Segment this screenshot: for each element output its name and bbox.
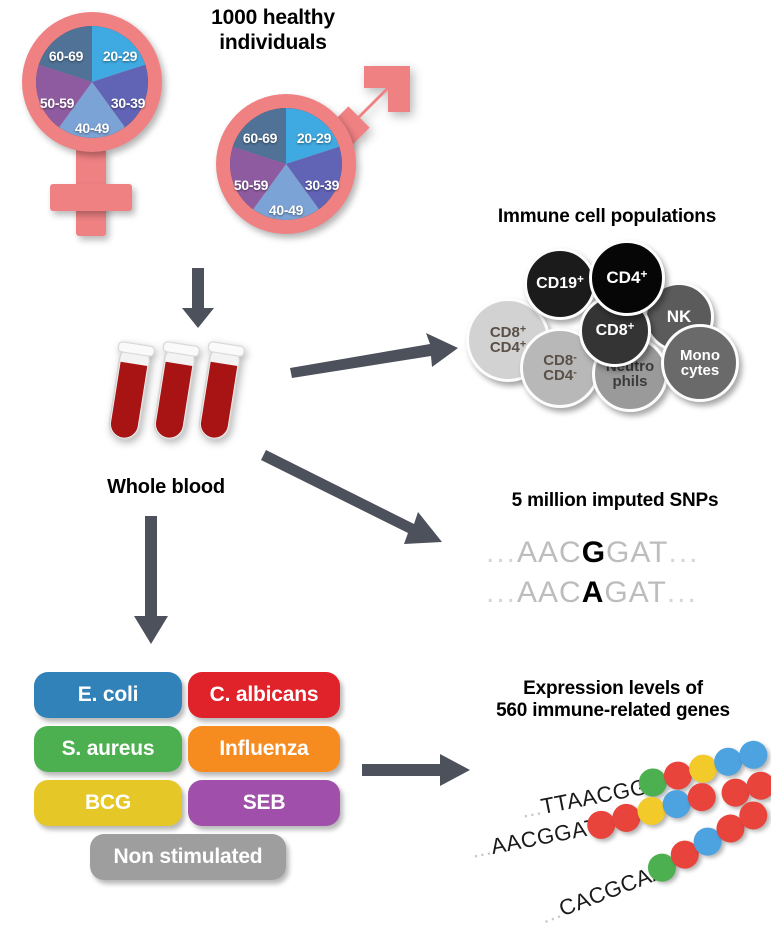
- immune-cell-label: CD8- CD4-: [543, 353, 577, 384]
- immune-cell-label: CD4+: [606, 269, 647, 286]
- arrow-blood-to-snps: [266, 450, 451, 550]
- immune-cell-label: CD19+: [536, 276, 584, 292]
- expression-title-line2: 560 immune-related genes: [458, 700, 768, 722]
- expression-bead: [685, 781, 718, 814]
- whole-blood-label: Whole blood: [86, 476, 246, 500]
- immune-cell-monocytes: Mono cytes: [661, 324, 739, 402]
- arrow-blood-to-immune-svg: [290, 330, 460, 380]
- snp-suffix: GAT: [606, 536, 668, 569]
- male-pie-label-50-59: 50-59: [234, 177, 268, 193]
- expression-title-line1: Expression levels of: [458, 678, 768, 700]
- immune-cell-cd4pos: CD4+: [589, 240, 665, 316]
- arrow-cohort-to-blood-svg: [178, 268, 218, 328]
- arrow-blood-to-snps-svg: [266, 450, 451, 550]
- snp-sequence-row: ...AACAGAT...: [486, 576, 698, 610]
- stimulus-c-albicans[interactable]: C. albicans: [188, 672, 340, 718]
- whole-blood-tubes: [98, 335, 248, 455]
- blood-tube: [194, 341, 245, 441]
- male-pie-label-20-29: 20-29: [297, 130, 331, 146]
- stimulus-e-coli[interactable]: E. coli: [34, 672, 182, 718]
- arrow-cohort-to-blood: [178, 268, 218, 328]
- female-gender-symbol: 20-29 30-39 40-49 50-59 60-69: [8, 8, 208, 238]
- snp-variant-allele: A: [582, 576, 605, 609]
- strand-bases: AACGGAT: [489, 814, 601, 859]
- arrow-blood-to-immune: [290, 330, 460, 380]
- snp-trail-dots: ...: [669, 536, 700, 569]
- expression-strands: ...TTAACGG ...AACGGAT ...CACGCAA: [460, 740, 771, 920]
- male-pie-label-40-49: 40-49: [269, 202, 303, 218]
- expression-bead: [737, 738, 770, 771]
- female-pie-label-20-29: 20-29: [103, 48, 137, 64]
- arrow-blood-to-stimuli-svg: [130, 516, 172, 646]
- immune-cell-label: Mono cytes: [680, 348, 720, 379]
- snp-suffix: GAT: [604, 576, 666, 609]
- blood-tube: [104, 341, 155, 441]
- male-pie-label-30-39: 30-39: [305, 177, 339, 193]
- immune-cell-label: NK: [667, 308, 692, 325]
- arrow-stimuli-to-expression: [362, 752, 472, 792]
- female-pie-label-50-59: 50-59: [40, 95, 74, 111]
- snp-lead-dots: ...: [486, 536, 517, 569]
- snp-prefix: AAC: [517, 536, 582, 569]
- snp-variant-allele: G: [582, 536, 606, 569]
- female-symbol-stem-cross: [50, 184, 132, 211]
- blood-tube: [149, 341, 200, 441]
- stimulus-seb[interactable]: SEB: [188, 780, 340, 826]
- snp-sequence-row: ...AACGGAT...: [486, 536, 700, 570]
- stimulus-bcg[interactable]: BCG: [34, 780, 182, 826]
- immune-cell-label: CD8+ CD4+: [490, 325, 526, 356]
- arrow-stimuli-to-expression-svg: [362, 752, 472, 792]
- stimulus-influenza[interactable]: Influenza: [188, 726, 340, 772]
- male-pie-label-60-69: 60-69: [243, 130, 277, 146]
- immune-panel-title: Immune cell populations: [452, 206, 762, 228]
- female-pie-label-40-49: 40-49: [75, 120, 109, 136]
- immune-cell-label: CD8+: [596, 323, 635, 339]
- snp-prefix: AAC: [517, 576, 582, 609]
- snp-sequences: ...AACGGAT... ...AACAGAT...: [478, 528, 768, 624]
- snp-panel-title: 5 million imputed SNPs: [470, 490, 760, 512]
- snp-trail-dots: ...: [667, 576, 698, 609]
- female-pie-label-60-69: 60-69: [49, 48, 83, 64]
- immune-cell-cluster: CD8+ CD4+ CD19+ CD4+ CD8+ NK CD8- CD4- N…: [450, 240, 771, 420]
- stimulus-non-stimulated[interactable]: Non stimulated: [90, 834, 286, 880]
- stimuli-panel: E. coli C. albicans S. aureus Influenza …: [30, 672, 340, 892]
- snp-lead-dots: ...: [486, 576, 517, 609]
- stimulus-s-aureus[interactable]: S. aureus: [34, 726, 182, 772]
- blood-tubes-svg: [98, 335, 248, 455]
- female-pie-label-30-39: 30-39: [111, 95, 145, 111]
- expression-panel-title: Expression levels of 560 immune-related …: [458, 678, 768, 723]
- male-gender-symbol: 20-29 30-39 40-49 50-59 60-69: [204, 52, 419, 252]
- arrow-blood-to-stimuli: [130, 516, 172, 646]
